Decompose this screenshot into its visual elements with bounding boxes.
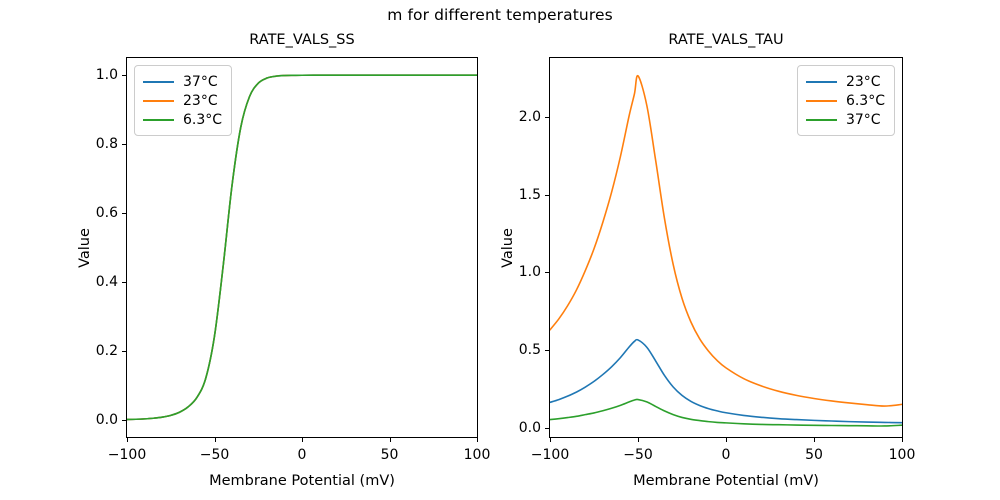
x-tick-label: 50 <box>381 447 399 463</box>
y-tick-mark <box>122 282 127 283</box>
legend-label: 37°C <box>183 74 218 90</box>
y-tick-mark <box>545 350 550 351</box>
legend-label: 6.3°C <box>183 112 222 128</box>
y-tick-label: 0.0 <box>96 412 118 428</box>
y-tick-label: 1.5 <box>519 187 541 203</box>
x-tick-label: 100 <box>464 447 491 463</box>
x-tick-label: −50 <box>200 447 230 463</box>
y-tick-mark <box>545 428 550 429</box>
legend-entry: 6.3°C <box>806 91 885 110</box>
legend-entry: 23°C <box>143 91 222 110</box>
legend-swatch-icon <box>806 100 837 102</box>
y-tick-label: 1.0 <box>519 264 541 280</box>
x-tick-mark <box>127 437 128 442</box>
axes-rate-vals-ss: RATE_VALS_SS Membrane Potential (mV) Val… <box>126 57 478 438</box>
x-tick-mark <box>638 437 639 442</box>
y-tick-label: 0.4 <box>96 274 118 290</box>
y-tick-label: 0.8 <box>96 136 118 152</box>
x-tick-label: 100 <box>889 447 916 463</box>
y-tick-label: 0.0 <box>519 420 541 436</box>
legend-right: 23°C6.3°C37°C <box>797 65 895 136</box>
x-tick-mark <box>477 437 478 442</box>
x-tick-label: −50 <box>623 447 653 463</box>
legend-label: 23°C <box>846 74 881 90</box>
legend-label: 6.3°C <box>846 93 885 109</box>
y-tick-mark <box>122 351 127 352</box>
legend-swatch-icon <box>143 100 174 102</box>
x-tick-label: −100 <box>531 447 569 463</box>
x-tick-mark <box>302 437 303 442</box>
y-tick-mark <box>545 117 550 118</box>
y-tick-mark <box>122 420 127 421</box>
x-tick-label: 50 <box>805 447 823 463</box>
y-tick-mark <box>122 213 127 214</box>
x-tick-mark <box>902 437 903 442</box>
legend-swatch-icon <box>143 81 174 83</box>
legend-swatch-icon <box>806 119 837 121</box>
x-tick-mark <box>814 437 815 442</box>
matplotlib-figure: m for different temperatures RATE_VALS_S… <box>0 0 1000 500</box>
ylabel-right: Value <box>500 228 516 268</box>
y-tick-label: 0.6 <box>96 205 118 221</box>
xlabel-right: Membrane Potential (mV) <box>550 473 902 489</box>
legend-entry: 6.3°C <box>143 110 222 129</box>
x-tick-label: −100 <box>108 447 146 463</box>
x-tick-label: 0 <box>722 447 731 463</box>
subplot-title-left: RATE_VALS_SS <box>127 32 477 48</box>
legend-entry: 37°C <box>806 110 885 129</box>
y-tick-label: 2.0 <box>519 109 541 125</box>
xlabel-left: Membrane Potential (mV) <box>127 473 477 489</box>
legend-label: 37°C <box>846 112 881 128</box>
legend-left: 37°C23°C6.3°C <box>134 65 232 136</box>
legend-swatch-icon <box>806 81 837 83</box>
legend-swatch-icon <box>143 119 174 121</box>
x-tick-mark <box>390 437 391 442</box>
ylabel-left: Value <box>77 228 93 268</box>
x-tick-mark <box>726 437 727 442</box>
x-tick-mark <box>215 437 216 442</box>
y-tick-mark <box>545 272 550 273</box>
legend-entry: 37°C <box>143 72 222 91</box>
y-tick-mark <box>545 195 550 196</box>
y-tick-mark <box>122 75 127 76</box>
figure-suptitle: m for different temperatures <box>0 6 1000 24</box>
axes-rate-vals-tau: RATE_VALS_TAU Membrane Potential (mV) Va… <box>549 57 903 438</box>
y-tick-label: 0.5 <box>519 342 541 358</box>
x-tick-label: 0 <box>298 447 307 463</box>
x-tick-mark <box>550 437 551 442</box>
legend-entry: 23°C <box>806 72 885 91</box>
legend-label: 23°C <box>183 93 218 109</box>
subplot-title-right: RATE_VALS_TAU <box>550 32 902 48</box>
y-tick-label: 1.0 <box>96 67 118 83</box>
y-tick-label: 0.2 <box>96 343 118 359</box>
y-tick-mark <box>122 144 127 145</box>
